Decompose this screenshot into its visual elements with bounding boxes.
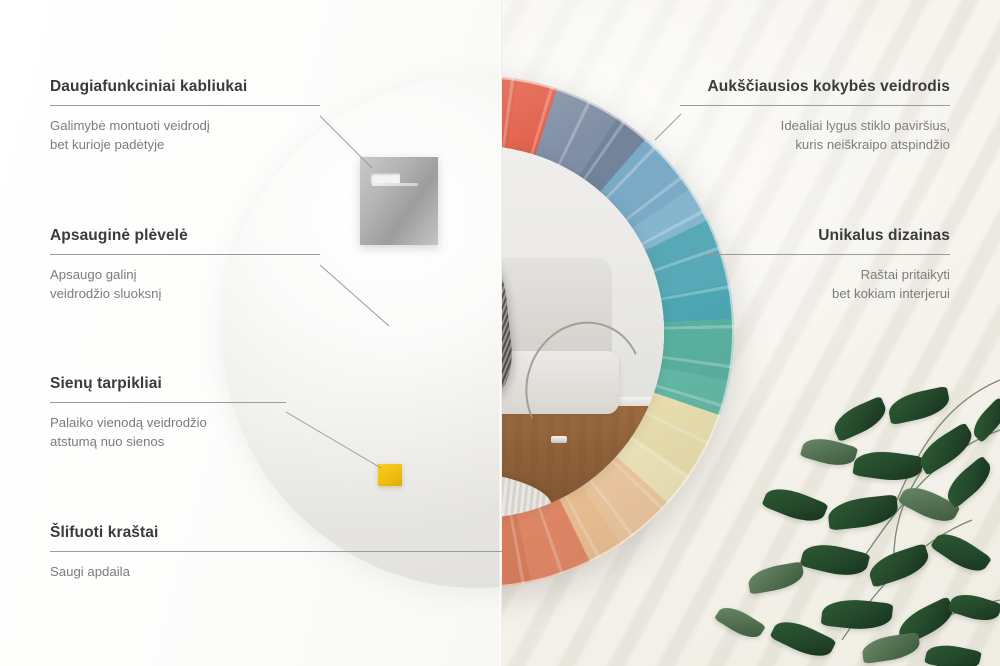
callout-polished-edges: Šlifuoti kraštai Saugi apdaila xyxy=(50,524,502,582)
callout-rule xyxy=(50,402,286,403)
callout-protective-film: Apsauginė plėvelė Apsaugo galinį veidrod… xyxy=(50,227,320,303)
callout-title: Apsauginė plėvelė xyxy=(50,227,320,245)
callout-title: Unikalus dizainas xyxy=(704,227,950,245)
callout-rule xyxy=(50,254,320,255)
callout-description: Idealiai lygus stiklo paviršius, kuris n… xyxy=(680,117,950,154)
callout-unique-design: Unikalus dizainas Raštai pritaikyti bet … xyxy=(704,227,950,303)
callout-description: Galimybė montuoti veidrodį bet kurioje p… xyxy=(50,117,320,154)
callout-title: Daugiafunkciniai kabliukai xyxy=(50,78,320,96)
callout-rule xyxy=(50,105,320,106)
callout-title: Sienų tarpikliai xyxy=(50,375,286,393)
callout-title: Aukščiausios kokybės veidrodis xyxy=(680,78,950,96)
callout-rule xyxy=(704,254,950,255)
callout-top-quality-mirror: Aukščiausios kokybės veidrodis Idealiai … xyxy=(680,78,950,154)
callout-rule xyxy=(50,551,502,552)
callout-multifunction-hooks: Daugiafunkciniai kabliukai Galimybė mont… xyxy=(50,78,320,154)
callout-wall-spacers: Sienų tarpikliai Palaiko vienodą veidrod… xyxy=(50,375,286,451)
hook-bar xyxy=(372,183,418,186)
callout-description: Palaiko vienodą veidrodžio atstumą nuo s… xyxy=(50,414,286,451)
callout-rule xyxy=(680,105,950,106)
callout-description: Saugi apdaila xyxy=(50,563,502,582)
infographic-canvas: Daugiafunkciniai kabliukai Galimybė mont… xyxy=(0,0,1000,666)
callout-title: Šlifuoti kraštai xyxy=(50,524,502,542)
callout-description: Apsaugo galinį veidrodžio sluoksnį xyxy=(50,266,320,303)
callout-description: Raštai pritaikyti bet kokiam interjerui xyxy=(704,266,950,303)
multifunction-hook-plate xyxy=(360,157,438,245)
wall-spacer-part xyxy=(378,464,402,486)
